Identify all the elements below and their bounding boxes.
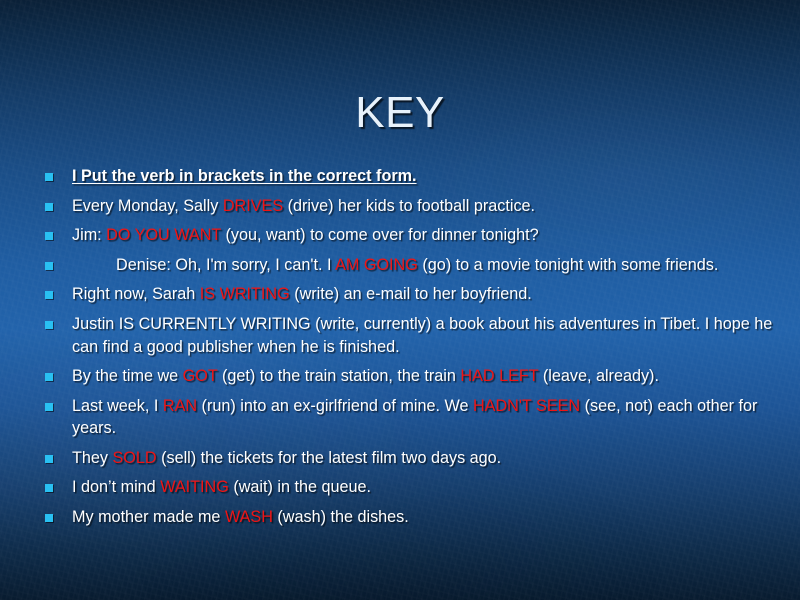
square-bullet-icon (45, 373, 53, 381)
square-bullet-icon (45, 262, 53, 270)
bullet-item-label: Right now, Sarah IS WRITING (write) an e… (72, 283, 778, 306)
bullet-item-label: Last week, I RAN (run) into an ex-girlfr… (72, 395, 778, 440)
page-title: KEY (0, 29, 800, 135)
sentence-text: Last week, I (72, 397, 163, 415)
bullet-item-label: My mother made me WASH (wash) the dishes… (72, 506, 778, 529)
answer-text: HADN'T SEEN (473, 397, 580, 415)
bullet-item-label: They SOLD (sell) the tickets for the lat… (72, 447, 778, 470)
bullet-item-label: I don’t mind WAITING (wait) in the queue… (72, 476, 778, 499)
square-bullet-icon (45, 173, 53, 181)
bullet-item-label: I Put the verb in brackets in the correc… (72, 165, 778, 188)
square-bullet-icon (45, 232, 53, 240)
bullet-item-item-9-waiting: I don’t mind WAITING (wait) in the queue… (0, 476, 778, 499)
answer-text: RAN (163, 397, 197, 415)
sentence-text: (drive) her kids to football practice. (283, 197, 535, 215)
sentence-text: Every Monday, Sally (72, 197, 223, 215)
square-bullet-icon (45, 484, 53, 492)
bullet-item-item-1-sally-drives: Every Monday, Sally DRIVES (drive) her k… (0, 195, 778, 218)
presentation-slide: KEY I Put the verb in brackets in the co… (0, 0, 800, 600)
square-bullet-icon (45, 455, 53, 463)
sentence-text: (you, want) to come over for dinner toni… (221, 226, 539, 244)
sentence-text: They (72, 449, 113, 467)
bullet-item-item-3-denise-am-going: Denise: Oh, I'm sorry, I can't. I AM GOI… (0, 254, 778, 277)
answer-text: HAD LEFT (460, 367, 538, 385)
sentence-text: (sell) the tickets for the latest film t… (157, 449, 502, 467)
answer-text: GOT (183, 367, 218, 385)
bullet-item-item-2-jim-do-you-want: Jim: DO YOU WANT (you, want) to come ove… (0, 224, 778, 247)
bullet-item-item-6-got-had-left: By the time we GOT (get) to the train st… (0, 365, 778, 388)
sentence-text: (get) to the train station, the train (217, 367, 460, 385)
square-bullet-icon (45, 203, 53, 211)
square-bullet-icon (45, 291, 53, 299)
answer-text: WAITING (160, 478, 229, 496)
sentence-text: Justin IS CURRENTLY WRITING (write, curr… (72, 315, 772, 356)
sentence-text: I Put the verb in brackets in the correc… (72, 167, 417, 185)
bullet-item-item-10-wash: My mother made me WASH (wash) the dishes… (0, 506, 778, 529)
answer-text: WASH (225, 508, 273, 526)
square-bullet-icon (45, 403, 53, 411)
sentence-text: (go) to a movie tonight with some friend… (418, 256, 719, 274)
bullet-item-label: Denise: Oh, I'm sorry, I can't. I AM GOI… (72, 254, 778, 277)
sentence-text: I don’t mind (72, 478, 160, 496)
answer-text: DO YOU WANT (106, 226, 221, 244)
bullet-item-item-7-ran-hadnt-seen: Last week, I RAN (run) into an ex-girlfr… (0, 395, 778, 440)
answer-text: AM GOING (335, 256, 418, 274)
bullet-item-label: Every Monday, Sally DRIVES (drive) her k… (72, 195, 778, 218)
bullet-item-label: Justin IS CURRENTLY WRITING (write, curr… (72, 313, 778, 358)
bullet-item-instruction: I Put the verb in brackets in the correc… (0, 165, 778, 188)
bullet-item-item-5-justin-is-currently-writing: Justin IS CURRENTLY WRITING (write, curr… (0, 313, 778, 358)
answer-text: SOLD (113, 449, 157, 467)
sentence-text: (write) an e-mail to her boyfriend. (290, 285, 532, 303)
bullet-list: I Put the verb in brackets in the correc… (0, 165, 800, 529)
sentence-text: (wait) in the queue. (229, 478, 371, 496)
sentence-text: Denise: Oh, I'm sorry, I can't. I (116, 256, 335, 274)
square-bullet-icon (45, 514, 53, 522)
answer-text: IS WRITING (200, 285, 290, 303)
square-bullet-icon (45, 321, 53, 329)
sentence-text: By the time we (72, 367, 183, 385)
sentence-text: (wash) the dishes. (273, 508, 409, 526)
sentence-text: Right now, Sarah (72, 285, 200, 303)
answer-text: DRIVES (223, 197, 283, 215)
bullet-item-item-8-they-sold: They SOLD (sell) the tickets for the lat… (0, 447, 778, 470)
bullet-item-item-4-sarah-is-writing: Right now, Sarah IS WRITING (write) an e… (0, 283, 778, 306)
sentence-text: Jim: (72, 226, 106, 244)
bullet-item-label: Jim: DO YOU WANT (you, want) to come ove… (72, 224, 778, 247)
sentence-text: My mother made me (72, 508, 225, 526)
sentence-text: (run) into an ex-girlfriend of mine. We (197, 397, 473, 415)
bullet-item-label: By the time we GOT (get) to the train st… (72, 365, 778, 388)
sentence-text: (leave, already). (538, 367, 659, 385)
